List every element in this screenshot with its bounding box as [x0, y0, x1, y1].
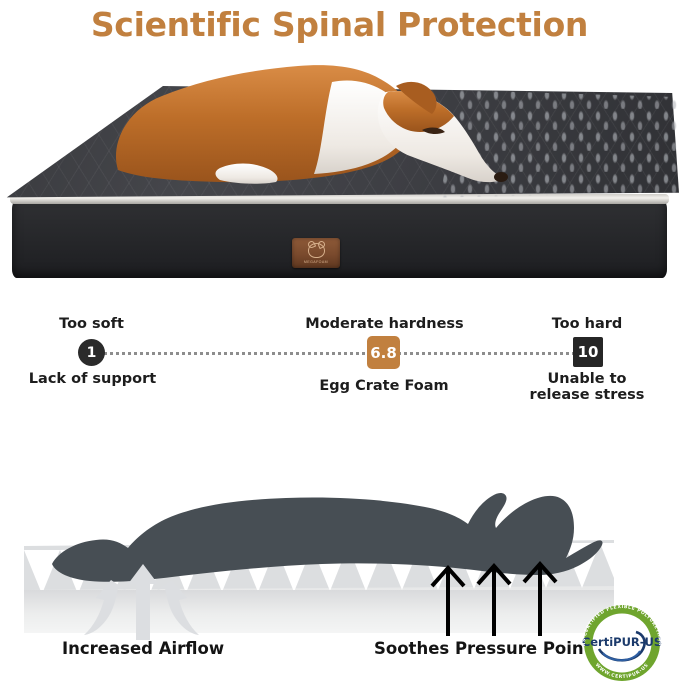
scale-right-bottom-label: Unable to release stress — [514, 371, 660, 403]
product-photo: MEGAFOAM — [0, 52, 679, 300]
scale-marker-10: 10 — [573, 337, 603, 367]
dog-on-bed-image — [100, 52, 540, 197]
brand-tag-text: MEGAFOAM — [304, 260, 328, 264]
page-title: Scientific Spinal Protection — [0, 0, 679, 48]
airflow-label: Increased Airflow — [62, 639, 224, 658]
infographic-page: Scientific Spinal Protection MEGAFOAM — [0, 0, 679, 686]
brand-leather-tag: MEGAFOAM — [292, 238, 340, 268]
scale-left-bottom-label: Lack of support — [10, 371, 175, 387]
dog-nose — [494, 172, 508, 182]
scale-right-bottom-line1: Unable to — [514, 371, 660, 387]
scale-right-top-label: Too hard — [516, 316, 658, 332]
scale-middle-bottom-label: Egg Crate Foam — [300, 378, 468, 394]
dog-face-icon — [308, 243, 325, 258]
scale-right-bottom-line2: release stress — [514, 387, 660, 403]
scale-connector-line — [85, 352, 594, 355]
scale-middle-top-label: Moderate hardness — [292, 316, 477, 332]
scale-marker-68: 6.8 — [367, 336, 400, 369]
certipur-us-badge: CertiPUR-US CONTAINS CERTIFIED FLEXIBLE … — [573, 601, 671, 683]
scale-marker-1: 1 — [78, 339, 105, 366]
scale-left-top-label: Too soft — [20, 316, 163, 332]
pressure-label: Soothes Pressure Points — [374, 639, 601, 658]
badge-name: CertiPUR-US — [582, 635, 662, 649]
